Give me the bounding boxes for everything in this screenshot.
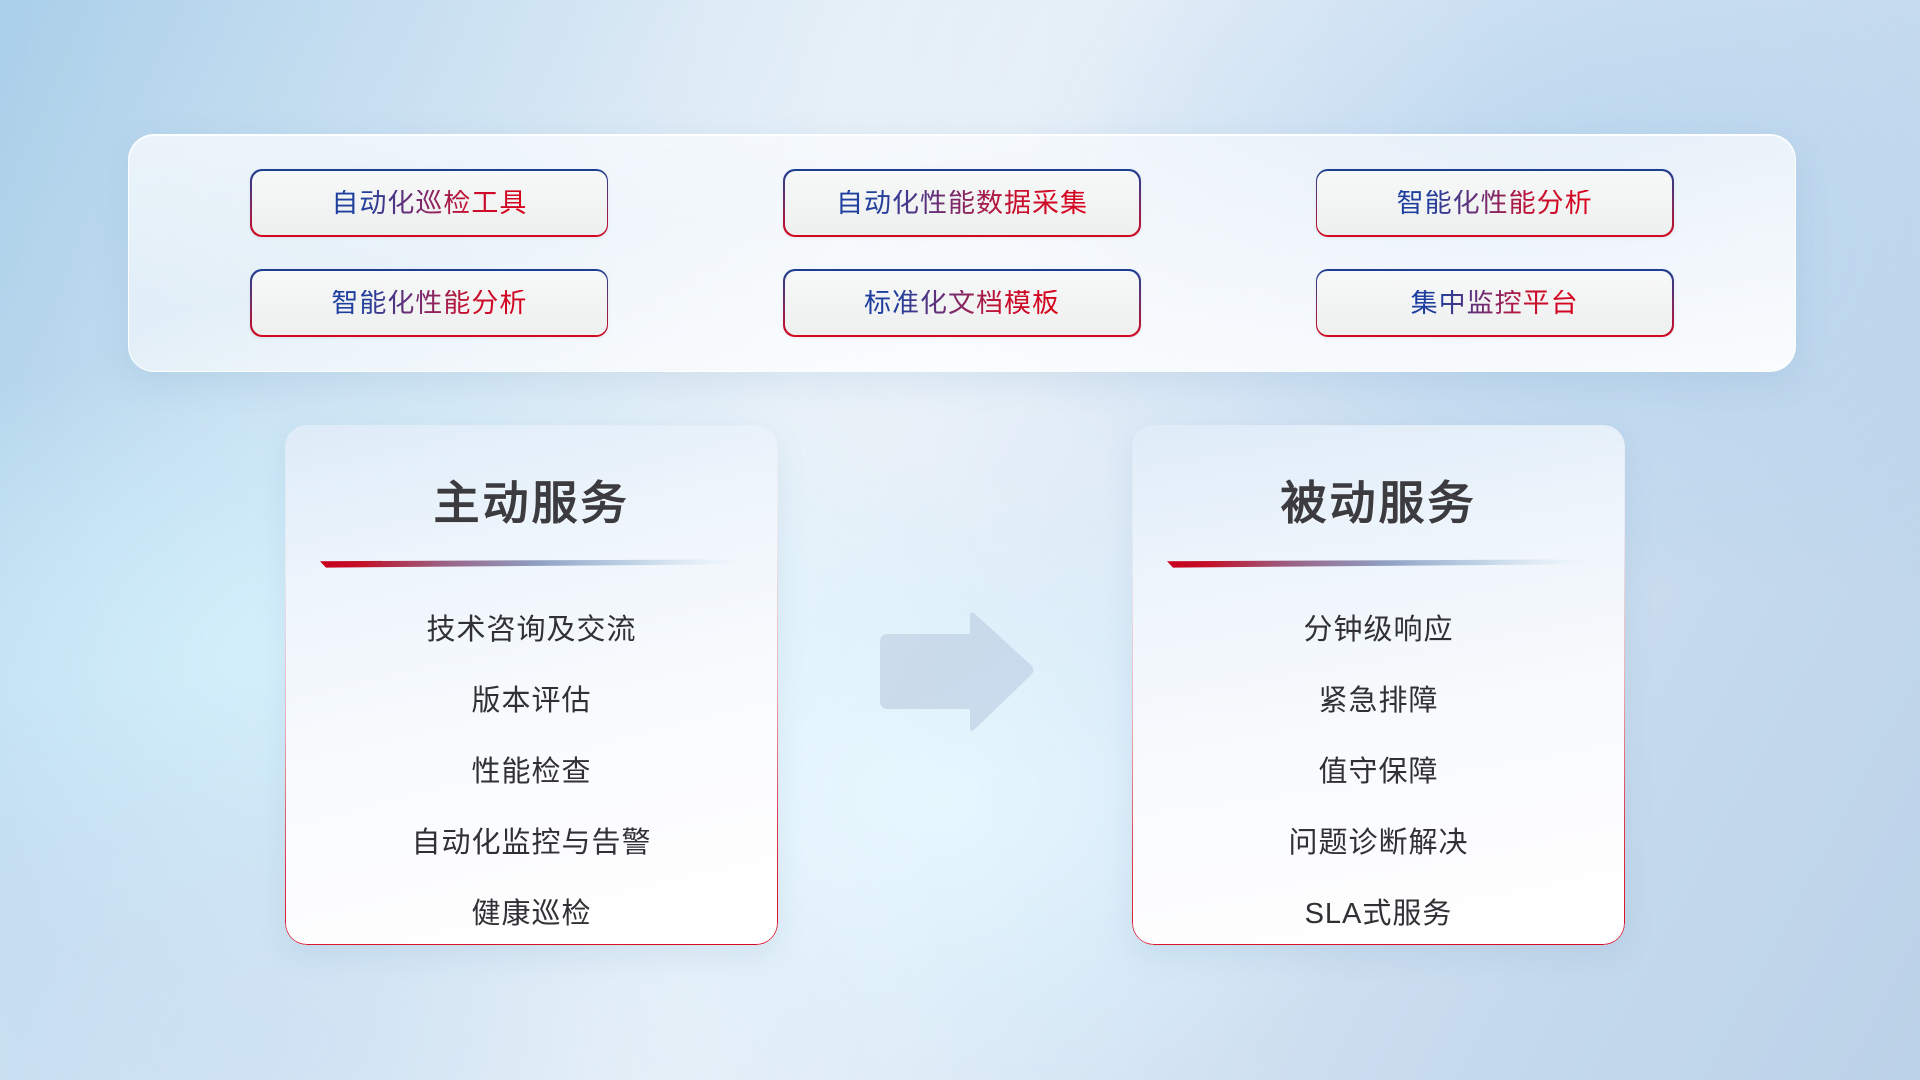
capability-pill-5[interactable]: 标准化文档模板 — [783, 269, 1141, 337]
list-item[interactable]: 问题诊断解决 — [1132, 815, 1625, 872]
proactive-service-card[interactable]: 主动服务 技术咨询及交流 版本评估 性能检查 — [285, 425, 778, 945]
capability-pill-4-label: 智能化性能分析 — [331, 290, 527, 317]
list-item[interactable]: 性能检查 — [285, 744, 778, 801]
capability-pill-5-label: 标准化文档模板 — [864, 290, 1060, 317]
proactive-card-title: 主动服务 — [285, 467, 778, 533]
capability-pill-2[interactable]: 自动化性能数据采集 — [783, 169, 1141, 237]
capability-pill-1[interactable]: 自动化巡检工具 — [250, 169, 608, 237]
diagram-stage: 自动化巡检工具 自动化性能数据采集 智能化性能分析 智能化性能分析 标准化文档模… — [0, 0, 1920, 1080]
capability-pill-3[interactable]: 智能化性能分析 — [1316, 169, 1674, 237]
arrow-right-icon — [874, 612, 1036, 734]
capability-pill-4-surface: 智能化性能分析 — [252, 271, 607, 336]
capability-pill-3-surface: 智能化性能分析 — [1317, 171, 1672, 236]
reactive-card-divider — [1167, 559, 1591, 568]
proactive-service-list: 技术咨询及交流 版本评估 性能检查 自动化监控与告警 健康巡检 — [285, 602, 778, 943]
capability-pill-1-surface: 自动化巡检工具 — [252, 171, 607, 236]
list-item[interactable]: 技术咨询及交流 — [285, 602, 778, 659]
capability-pill-3-label: 智能化性能分析 — [1397, 190, 1593, 217]
reactive-card-title: 被动服务 — [1132, 467, 1625, 533]
capability-pill-6-label: 集中监控平台 — [1411, 290, 1579, 317]
capability-pill-2-surface: 自动化性能数据采集 — [785, 171, 1140, 236]
list-item[interactable]: 版本评估 — [285, 673, 778, 730]
capability-pill-4[interactable]: 智能化性能分析 — [250, 269, 608, 337]
list-item[interactable]: 值守保障 — [1132, 744, 1625, 801]
list-item[interactable]: 健康巡检 — [285, 886, 778, 943]
capability-pill-6-surface: 集中监控平台 — [1317, 271, 1672, 336]
list-item[interactable]: 自动化监控与告警 — [285, 815, 778, 872]
capability-panel: 自动化巡检工具 自动化性能数据采集 智能化性能分析 智能化性能分析 标准化文档模… — [128, 134, 1796, 372]
capability-pill-2-label: 自动化性能数据采集 — [836, 190, 1088, 217]
list-item[interactable]: 紧急排障 — [1132, 673, 1625, 730]
reactive-service-list: 分钟级响应 紧急排障 值守保障 问题诊断解决 SLA式服务 — [1132, 602, 1625, 943]
capability-pill-5-surface: 标准化文档模板 — [785, 271, 1140, 336]
list-item[interactable]: 分钟级响应 — [1132, 602, 1625, 659]
capability-pill-6[interactable]: 集中监控平台 — [1316, 269, 1674, 337]
reactive-service-card[interactable]: 被动服务 分钟级响应 紧急排障 值守保障 — [1132, 425, 1625, 945]
list-item[interactable]: SLA式服务 — [1132, 886, 1625, 943]
capability-pill-1-label: 自动化巡检工具 — [331, 190, 527, 217]
proactive-card-divider — [320, 559, 744, 568]
